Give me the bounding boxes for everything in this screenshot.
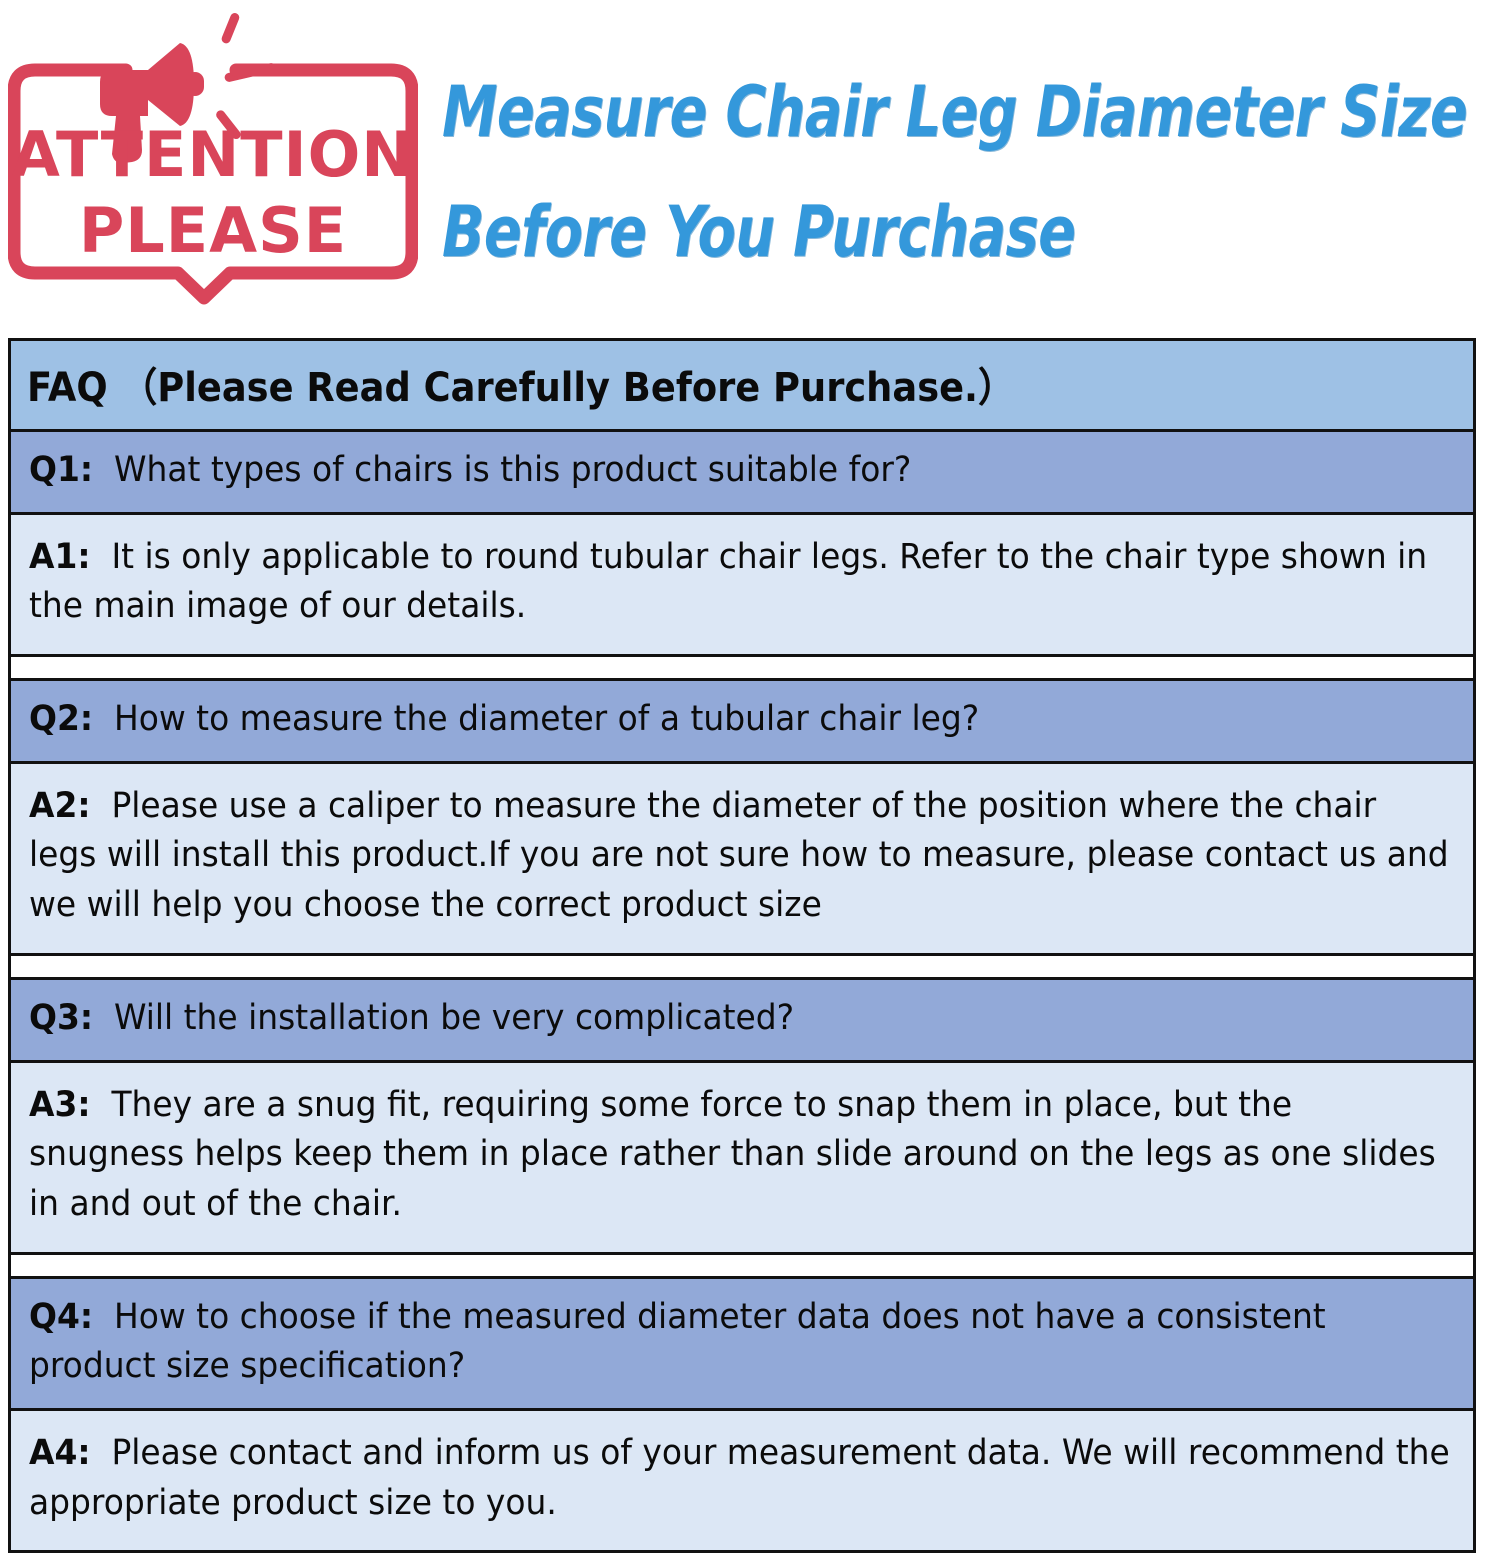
question-label: Q1:	[29, 450, 93, 490]
faq-answer-text: A4: Please contact and inform us of your…	[29, 1429, 1452, 1528]
page-title: Measure Chair Leg Diameter Size Before Y…	[442, 52, 1492, 292]
answer-body: It is only applicable to round tubular c…	[29, 537, 1427, 627]
faq-question-row: Q2: How to measure the diameter of a tub…	[11, 681, 1473, 764]
question-label: Q4:	[29, 1297, 93, 1337]
header-banner: ATTENTION PLEASE Measure Chair Leg Diame…	[0, 0, 1500, 330]
faq-table: FAQ （Please Read Carefully Before Purcha…	[8, 338, 1476, 1553]
faq-table-header: FAQ （Please Read Carefully Before Purcha…	[11, 341, 1473, 432]
faq-answer-row: A2: Please use a caliper to measure the …	[11, 764, 1473, 956]
attention-please-badge: ATTENTION PLEASE	[8, 8, 418, 308]
faq-answer-row: A3: They are a snug fit, requiring some …	[11, 1063, 1473, 1255]
question-label: Q3:	[29, 998, 93, 1038]
answer-body: Please use a caliper to measure the diam…	[29, 786, 1449, 925]
faq-question-row: Q4: How to choose if the measured diamet…	[11, 1279, 1473, 1411]
question-body: How to choose if the measured diameter d…	[29, 1297, 1326, 1387]
faq-row-spacer	[11, 1255, 1473, 1279]
faq-row-spacer	[11, 657, 1473, 681]
faq-header-text: FAQ （Please Read Carefully Before Purcha…	[27, 355, 1343, 413]
answer-body: They are a snug fit, requiring some forc…	[29, 1085, 1436, 1224]
faq-question-text: Q1: What types of chairs is this product…	[29, 446, 1452, 496]
faq-answer-text: A2: Please use a caliper to measure the …	[29, 782, 1452, 931]
question-body: What types of chairs is this product sui…	[114, 450, 911, 490]
answer-label: A3:	[29, 1085, 91, 1125]
badge-line1: ATTENTION	[12, 118, 414, 191]
question-label: Q2:	[29, 699, 93, 739]
faq-answer-text: A1: It is only applicable to round tubul…	[29, 533, 1452, 632]
faq-question-text: Q4: How to choose if the measured diamet…	[29, 1293, 1452, 1392]
faq-question-text: Q3: Will the installation be very compli…	[29, 994, 1452, 1044]
faq-answer-text: A3: They are a snug fit, requiring some …	[29, 1081, 1452, 1230]
faq-question-row: Q3: Will the installation be very compli…	[11, 980, 1473, 1063]
page-title-line-1: Measure Chair Leg Diameter Size	[442, 52, 1282, 172]
badge-line2: PLEASE	[79, 194, 347, 267]
answer-body: Please contact and inform us of your mea…	[29, 1433, 1450, 1523]
faq-answer-row: A1: It is only applicable to round tubul…	[11, 515, 1473, 657]
question-body: How to measure the diameter of a tubular…	[114, 699, 979, 739]
answer-label: A4:	[29, 1433, 91, 1473]
page-title-line-2: Before You Purchase	[442, 172, 1282, 292]
question-body: Will the installation be very complicate…	[114, 998, 794, 1038]
faq-question-row: Q1: What types of chairs is this product…	[11, 432, 1473, 515]
faq-row-spacer	[11, 956, 1473, 980]
answer-label: A1:	[29, 537, 91, 577]
faq-question-text: Q2: How to measure the diameter of a tub…	[29, 695, 1452, 745]
answer-label: A2:	[29, 786, 91, 826]
faq-answer-row: A4: Please contact and inform us of your…	[11, 1411, 1473, 1550]
